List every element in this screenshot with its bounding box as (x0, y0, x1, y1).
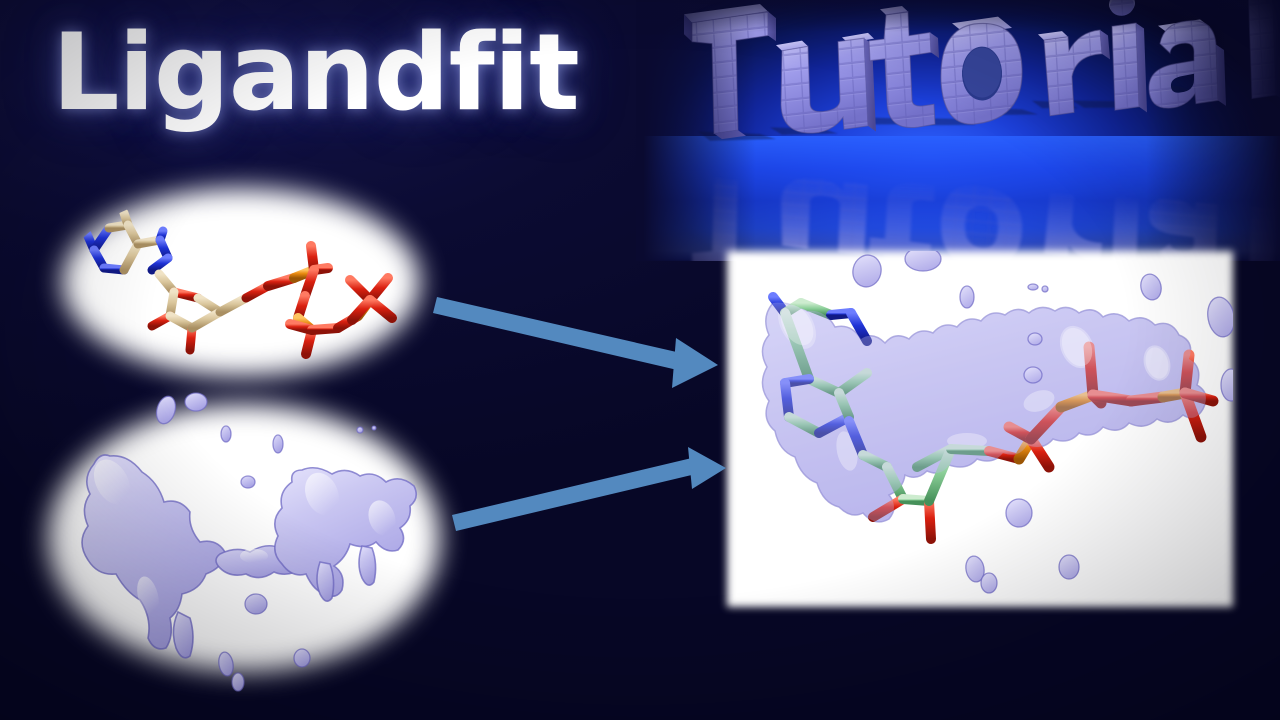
title-slide: Ligandfit (0, 0, 1280, 720)
vignette-overlay (0, 0, 1280, 720)
